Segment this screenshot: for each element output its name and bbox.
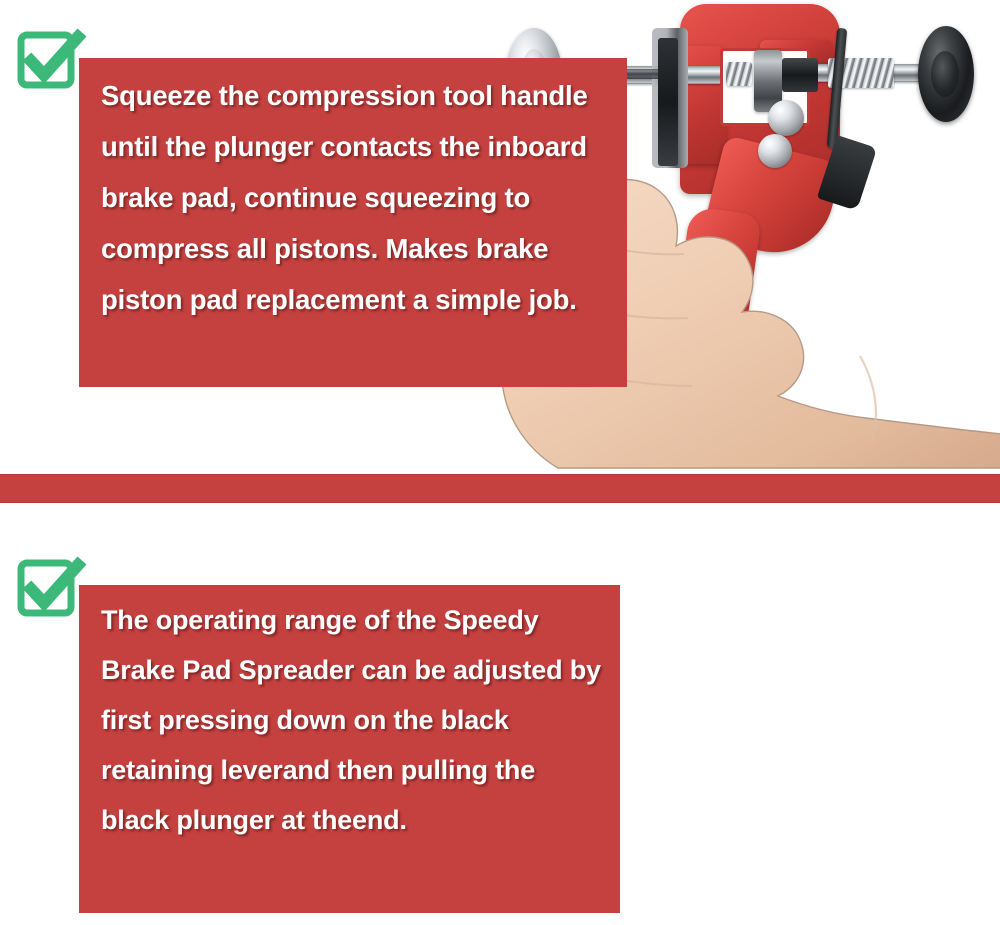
section-divider-bar: [0, 474, 1000, 503]
product-infographic: Squeeze the compression tool handle unti…: [0, 0, 1000, 925]
tool-collar: [782, 58, 818, 92]
tool-side-plate-dark: [658, 38, 678, 166]
checkbox-check-icon: [16, 556, 82, 622]
black-plunger-knob: [918, 26, 974, 122]
tool-spring-left: [726, 62, 752, 86]
instruction-card-top: Squeeze the compression tool handle unti…: [79, 58, 627, 387]
tool-ball-upper: [768, 100, 804, 136]
instruction-panel-top: Squeeze the compression tool handle unti…: [0, 0, 1000, 474]
instruction-panel-bottom: The operating range of the Speedy Brake …: [0, 503, 1000, 925]
instruction-text-top: Squeeze the compression tool handle unti…: [101, 70, 617, 325]
instruction-text-bottom: The operating range of the Speedy Brake …: [101, 595, 610, 845]
tool-ball-lower: [758, 134, 792, 168]
checkbox-check-icon: [16, 28, 82, 94]
instruction-card-bottom: The operating range of the Speedy Brake …: [79, 585, 620, 913]
